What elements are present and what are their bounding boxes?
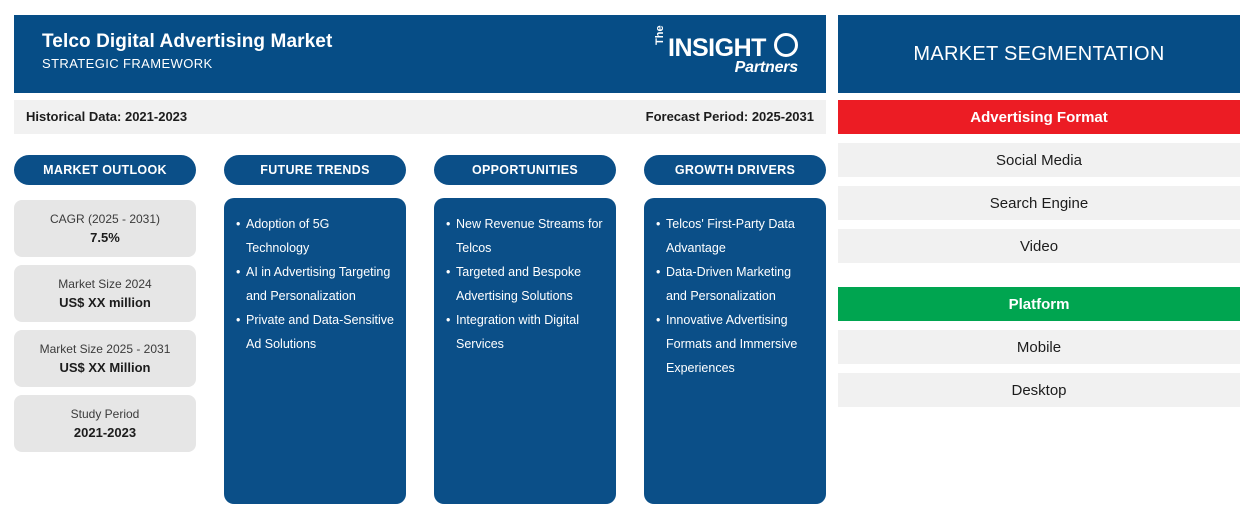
market-segmentation-panel: MARKET SEGMENTATION Advertising Format S…: [838, 15, 1240, 407]
metric-label: CAGR (2025 - 2031): [50, 211, 160, 228]
market-outlook-pill: MARKET OUTLOOK: [14, 155, 196, 185]
metric-value: 2021-2023: [74, 423, 136, 442]
list-item: Mobile: [838, 330, 1240, 364]
list-item: Video: [838, 229, 1240, 263]
opportunities-box: New Revenue Streams for Telcos Targeted …: [434, 198, 616, 504]
growth-drivers-box: Telcos' First-Party Data Advantage Data-…: [644, 198, 826, 504]
list-item: Integration with Digital Services: [446, 308, 604, 356]
metric-value: US$ XX million: [59, 293, 151, 312]
metric-label: Study Period: [71, 406, 140, 423]
list-item: Telcos' First-Party Data Advantage: [656, 212, 814, 260]
metric-card-stack: CAGR (2025 - 2031) 7.5% Market Size 2024…: [14, 200, 196, 452]
future-trends-box: Adoption of 5G Technology AI in Advertis…: [224, 198, 406, 504]
list-item: Search Engine: [838, 186, 1240, 220]
list-item: Targeted and Bespoke Advertising Solutio…: [446, 260, 604, 308]
growth-drivers-pill: GROWTH DRIVERS: [644, 155, 826, 185]
segmentation-group-advertising-format: Advertising Format Social Media Search E…: [838, 100, 1240, 263]
strategic-framework-panel: Telco Digital Advertising Market STRATEG…: [14, 15, 826, 475]
segment-title: Platform: [838, 287, 1240, 321]
metric-card: CAGR (2025 - 2031) 7.5%: [14, 200, 196, 257]
future-trends-column: FUTURE TRENDS Adoption of 5G Technology …: [224, 155, 406, 504]
segmentation-group-platform: Platform Mobile Desktop: [838, 287, 1240, 407]
forecast-period-label: Forecast Period: 2025-2031: [646, 109, 814, 124]
metric-card: Market Size 2024 US$ XX million: [14, 265, 196, 322]
metric-card: Market Size 2025 - 2031 US$ XX Million: [14, 330, 196, 387]
list-item: New Revenue Streams for Telcos: [446, 212, 604, 260]
insight-partners-logo: The INSIGHT Partners: [652, 33, 802, 85]
metric-value: US$ XX Million: [59, 358, 150, 377]
market-outlook-column: MARKET OUTLOOK CAGR (2025 - 2031) 7.5% M…: [14, 155, 196, 452]
list-item: AI in Advertising Targeting and Personal…: [236, 260, 394, 308]
list-item: Desktop: [838, 373, 1240, 407]
growth-drivers-column: GROWTH DRIVERS Telcos' First-Party Data …: [644, 155, 826, 504]
list-item: Private and Data-Sensitive Ad Solutions: [236, 308, 394, 356]
metric-card: Study Period 2021-2023: [14, 395, 196, 452]
historical-data-label: Historical Data: 2021-2023: [26, 109, 187, 124]
title-banner: Telco Digital Advertising Market STRATEG…: [14, 15, 826, 93]
magnifier-bubble-icon: [774, 33, 798, 57]
period-bar: Historical Data: 2021-2023 Forecast Peri…: [14, 100, 826, 134]
opportunities-column: OPPORTUNITIES New Revenue Streams for Te…: [434, 155, 616, 504]
metric-label: Market Size 2025 - 2031: [40, 341, 171, 358]
list-item: Adoption of 5G Technology: [236, 212, 394, 260]
list-item: Innovative Advertising Formats and Immer…: [656, 308, 814, 380]
metric-label: Market Size 2024: [58, 276, 151, 293]
list-item: Data-Driven Marketing and Personalizatio…: [656, 260, 814, 308]
logo-the-text: The: [654, 25, 666, 45]
logo-partners-text: Partners: [735, 59, 798, 77]
logo-insight-text: INSIGHT: [668, 35, 766, 61]
opportunities-pill: OPPORTUNITIES: [434, 155, 616, 185]
segment-title: Advertising Format: [838, 100, 1240, 134]
market-segmentation-header: MARKET SEGMENTATION: [838, 15, 1240, 93]
list-item: Social Media: [838, 143, 1240, 177]
metric-value: 7.5%: [90, 228, 120, 247]
future-trends-pill: FUTURE TRENDS: [224, 155, 406, 185]
